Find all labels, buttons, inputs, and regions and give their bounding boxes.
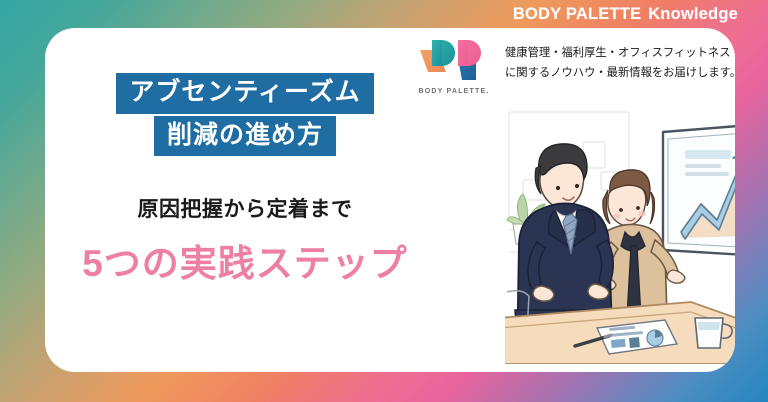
title-bar-line2: 削減の進め方 <box>154 116 336 157</box>
title-bar-line1: アブセンティーズム <box>116 73 373 114</box>
content-card: アブセンティーズム 削減の進め方 原因把握から定着まで 5つの実践ステップ <box>45 28 735 372</box>
text-column: アブセンティーズム 削減の進め方 原因把握から定着まで 5つの実践ステップ <box>45 28 445 372</box>
illustration-svg <box>505 106 735 364</box>
page-title: アブセンティーズム 削減の進め方 <box>45 73 445 156</box>
brand-blurb: 健康管理・福利厚生・オフィスフィットネス に関するノウハウ・最新情報をお届けしま… <box>505 44 735 84</box>
brand-illustration-column: BODY PALETTE. 健康管理・福利厚生・オフィスフィットネス に関するノ… <box>410 28 735 372</box>
brand-section: Knowledge <box>648 5 738 23</box>
subtitle: 原因把握から定着まで <box>45 193 445 223</box>
bp-monogram-icon <box>418 38 490 84</box>
office-presentation-illustration <box>505 106 735 364</box>
logo-mark: BODY PALETTE. <box>415 38 493 95</box>
presentation-screen <box>663 124 735 256</box>
headline: 5つの実践ステップ <box>45 233 445 287</box>
blurb-line-2: に関するノウハウ・最新情報をお届けします。 <box>505 64 735 84</box>
logo-wordmark: BODY PALETTE. <box>415 88 493 95</box>
knowledge-banner: BODY PALETTEKnowledge アブセンティーズム 削減の進め方 原… <box>0 0 768 402</box>
brand-name: BODY PALETTE <box>513 5 641 23</box>
blurb-line-1: 健康管理・福利厚生・オフィスフィットネス <box>505 44 735 64</box>
banner-brand-header: BODY PALETTEKnowledge <box>513 5 738 24</box>
logo-block: BODY PALETTE. 健康管理・福利厚生・オフィスフィットネス に関するノ… <box>415 38 735 95</box>
